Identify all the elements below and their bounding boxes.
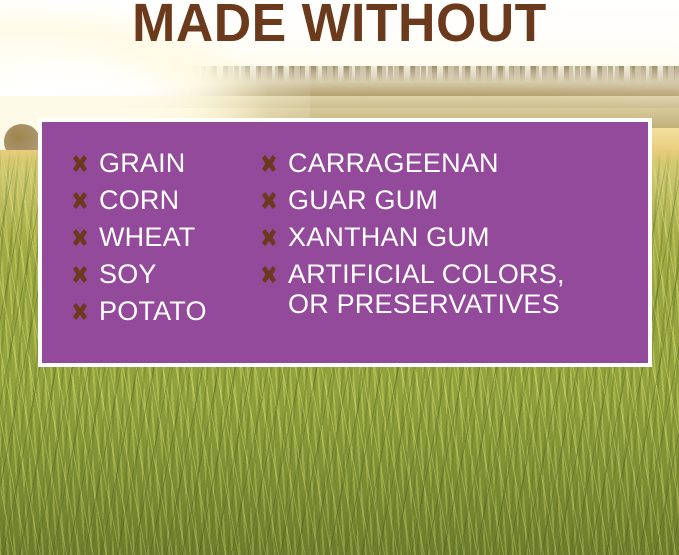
list-item: ARTIFICIAL COLORS, OR PRESERVATIVES [258, 259, 644, 319]
list-item: POTATO [69, 296, 264, 326]
page-title: MADE WITHOUT [14, 0, 666, 54]
list-item-label: ARTIFICIAL COLORS, OR PRESERVATIVES [288, 259, 565, 319]
list-item: WHEAT [69, 222, 264, 252]
left-column: GRAIN CORN [69, 148, 264, 333]
exclusion-lists: GRAIN CORN [42, 122, 648, 363]
x-mark-icon [258, 223, 280, 253]
x-mark-icon [69, 186, 91, 216]
list-item-label: CORN [99, 185, 179, 215]
x-mark-icon [69, 297, 91, 327]
made-without-panel: GRAIN CORN [42, 122, 648, 363]
made-without-panel-border: GRAIN CORN [38, 118, 652, 367]
list-item-label: GUAR GUM [288, 185, 438, 215]
list-item: GUAR GUM [258, 185, 644, 215]
x-mark-icon [69, 223, 91, 253]
list-item-label: CARRAGEENAN [288, 148, 499, 178]
list-item-label: GRAIN [99, 148, 186, 178]
x-mark-icon [69, 260, 91, 290]
x-mark-icon [258, 260, 280, 290]
list-item-label: POTATO [99, 296, 207, 326]
list-item-label: WHEAT [99, 222, 196, 252]
list-item-label: XANTHAN GUM [288, 222, 490, 252]
x-mark-icon [69, 149, 91, 179]
product-infographic-panel: MADE WITHOUT GRAIN [0, 0, 679, 555]
list-item: CARRAGEENAN [258, 148, 644, 178]
x-mark-icon [258, 149, 280, 179]
list-item-label: SOY [99, 259, 157, 289]
list-item: CORN [69, 185, 264, 215]
list-item: XANTHAN GUM [258, 222, 644, 252]
x-mark-icon [258, 186, 280, 216]
right-column: CARRAGEENAN GUAR GUM [258, 148, 644, 326]
list-item: GRAIN [69, 148, 264, 178]
list-item: SOY [69, 259, 264, 289]
